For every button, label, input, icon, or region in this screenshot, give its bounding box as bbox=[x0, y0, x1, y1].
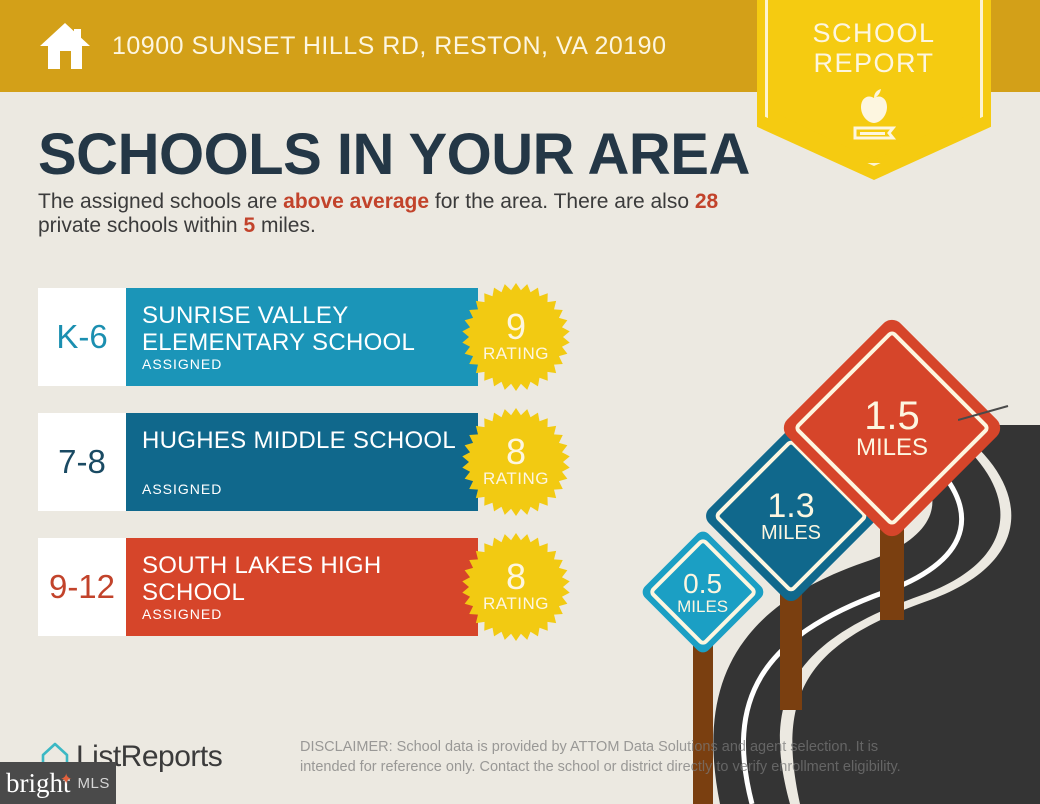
spark-icon: ✦ bbox=[60, 770, 73, 789]
subtitle-highlight-radius: 5 bbox=[243, 214, 255, 237]
sign-wire-icon bbox=[958, 404, 1018, 424]
badge-title-line1: SCHOOL bbox=[757, 18, 991, 48]
sign-diamond: 1.5 MILES bbox=[779, 315, 1005, 541]
sign-distance-unit: MILES bbox=[732, 436, 1040, 460]
subtitle-part-4: miles. bbox=[255, 214, 316, 237]
school-status: ASSIGNED bbox=[142, 356, 222, 372]
school-name: SUNRISE VALLEY ELEMENTARY SCHOOL bbox=[142, 302, 462, 356]
school-name: SOUTH LAKES HIGH SCHOOL bbox=[142, 552, 462, 606]
grade-range-badge: 7-8 bbox=[38, 413, 126, 511]
subtitle-part-1: The assigned schools are bbox=[38, 190, 283, 213]
school-info: SUNRISE VALLEY ELEMENTARY SCHOOL ASSIGNE… bbox=[126, 288, 478, 386]
school-row[interactable]: 9-12 SOUTH LAKES HIGH SCHOOL ASSIGNED 8 … bbox=[38, 538, 478, 636]
school-info: SOUTH LAKES HIGH SCHOOL ASSIGNED bbox=[126, 538, 478, 636]
grade-range-badge: K-6 bbox=[38, 288, 126, 386]
starburst-icon bbox=[462, 283, 570, 391]
bright-mls-badge[interactable]: bright ✦ MLS bbox=[0, 762, 116, 804]
page-subtitle: The assigned schools are above average f… bbox=[38, 190, 728, 238]
disclaimer-text: DISCLAIMER: School data is provided by A… bbox=[300, 737, 908, 777]
road-scene-illustration: 0.5 MILES 1.3 MILES 1.5 bbox=[600, 330, 1040, 804]
rating-starburst-badge: 8 RATING bbox=[462, 408, 570, 516]
grade-range-badge: 9-12 bbox=[38, 538, 126, 636]
distance-sign: 1.5 MILES bbox=[780, 330, 1000, 630]
school-row[interactable]: K-6 SUNRISE VALLEY ELEMENTARY SCHOOL ASS… bbox=[38, 288, 478, 386]
subtitle-highlight-count: 28 bbox=[695, 190, 718, 213]
school-report-infographic: 10900 SUNSET HILLS RD, RESTON, VA 20190 … bbox=[0, 0, 1040, 804]
apple-and-book-icon bbox=[757, 88, 991, 153]
property-address: 10900 SUNSET HILLS RD, RESTON, VA 20190 bbox=[112, 32, 667, 61]
school-info: HUGHES MIDDLE SCHOOL ASSIGNED bbox=[126, 413, 478, 511]
school-status: ASSIGNED bbox=[142, 481, 222, 497]
badge-title-line2: REPORT bbox=[757, 48, 991, 78]
house-icon bbox=[38, 21, 92, 71]
page-title: SCHOOLS IN YOUR AREA bbox=[38, 124, 750, 186]
subtitle-highlight-rating: above average bbox=[283, 190, 429, 213]
badge-title: SCHOOL REPORT bbox=[757, 18, 991, 78]
starburst-icon bbox=[462, 408, 570, 516]
bright-wordmark: bright ✦ bbox=[6, 768, 71, 799]
starburst-icon bbox=[462, 533, 570, 641]
subtitle-part-3: private schools within bbox=[38, 214, 243, 237]
school-name: HUGHES MIDDLE SCHOOL bbox=[142, 427, 462, 454]
header-content: 10900 SUNSET HILLS RD, RESTON, VA 20190 bbox=[38, 0, 667, 92]
rating-starburst-badge: 9 RATING bbox=[462, 283, 570, 391]
rating-starburst-badge: 8 RATING bbox=[462, 533, 570, 641]
subtitle-part-2: for the area. There are also bbox=[429, 190, 695, 213]
school-row[interactable]: 7-8 HUGHES MIDDLE SCHOOL ASSIGNED 8 RATI… bbox=[38, 413, 478, 511]
mls-text: MLS bbox=[78, 775, 110, 792]
school-report-badge: SCHOOL REPORT bbox=[757, 0, 991, 180]
school-status: ASSIGNED bbox=[142, 606, 222, 622]
